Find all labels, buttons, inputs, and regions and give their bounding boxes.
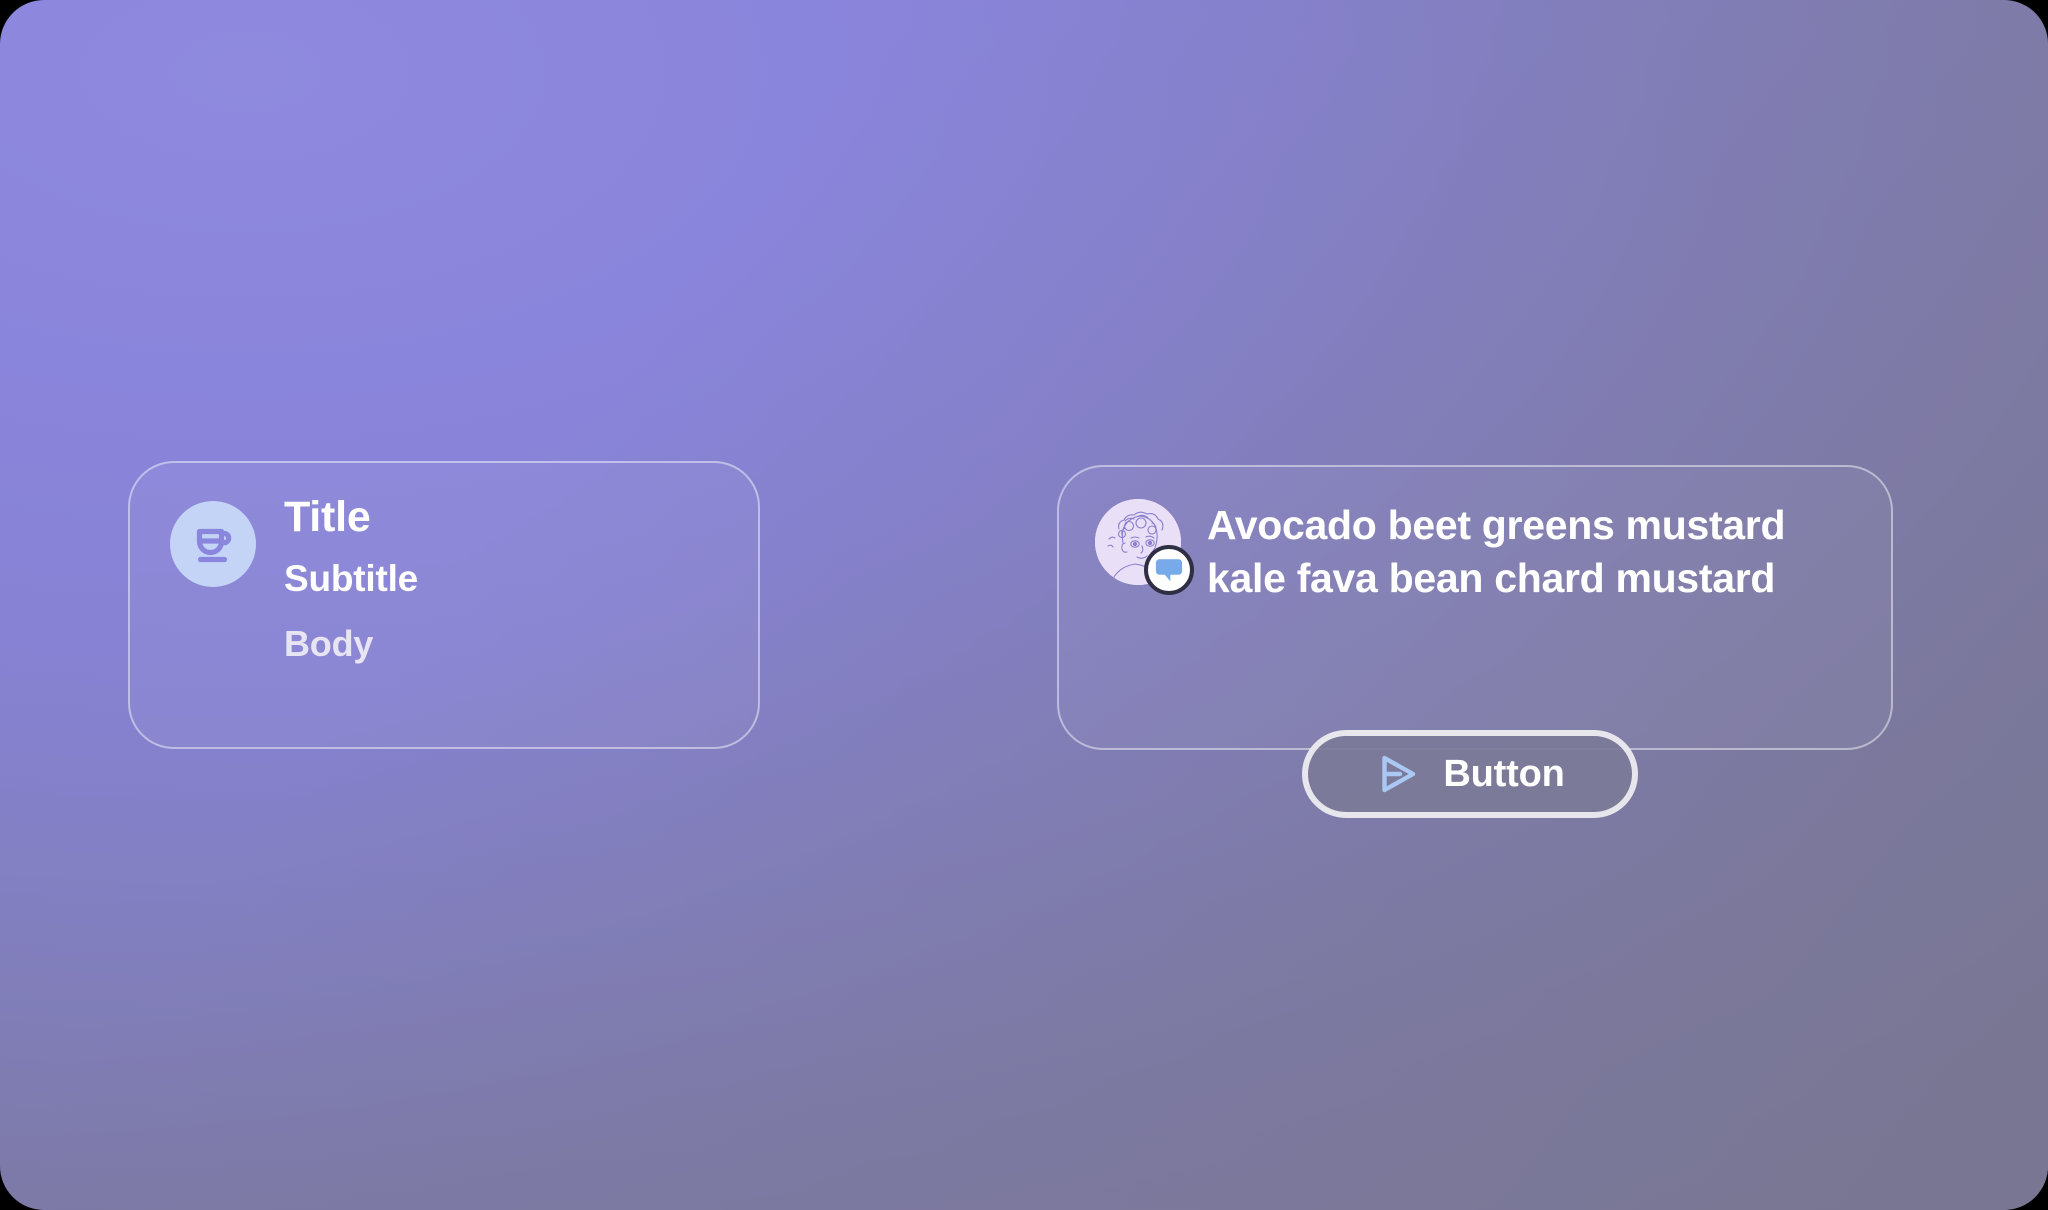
design-canvas: Title Subtitle Body (0, 0, 2048, 1210)
coffee-cup-icon (170, 501, 256, 587)
info-card[interactable]: Title Subtitle Body (128, 461, 760, 749)
avatar (1095, 499, 1181, 585)
message-card[interactable]: Avocado beet greens mustard kale fava be… (1057, 465, 1893, 750)
info-card-text-block: Title Subtitle Body (284, 495, 418, 663)
message-card-text-block: Avocado beet greens mustard kale fava be… (1207, 497, 1807, 606)
chat-bubble-icon (1144, 545, 1194, 595)
send-icon (1375, 751, 1421, 797)
card-subtitle: Subtitle (284, 559, 418, 599)
send-button[interactable]: Button (1302, 730, 1638, 818)
page-title: Title (284, 495, 418, 541)
message-headline: Avocado beet greens mustard kale fava be… (1207, 499, 1807, 606)
card-body-text: Body (284, 625, 418, 664)
send-button-label: Button (1443, 753, 1564, 796)
